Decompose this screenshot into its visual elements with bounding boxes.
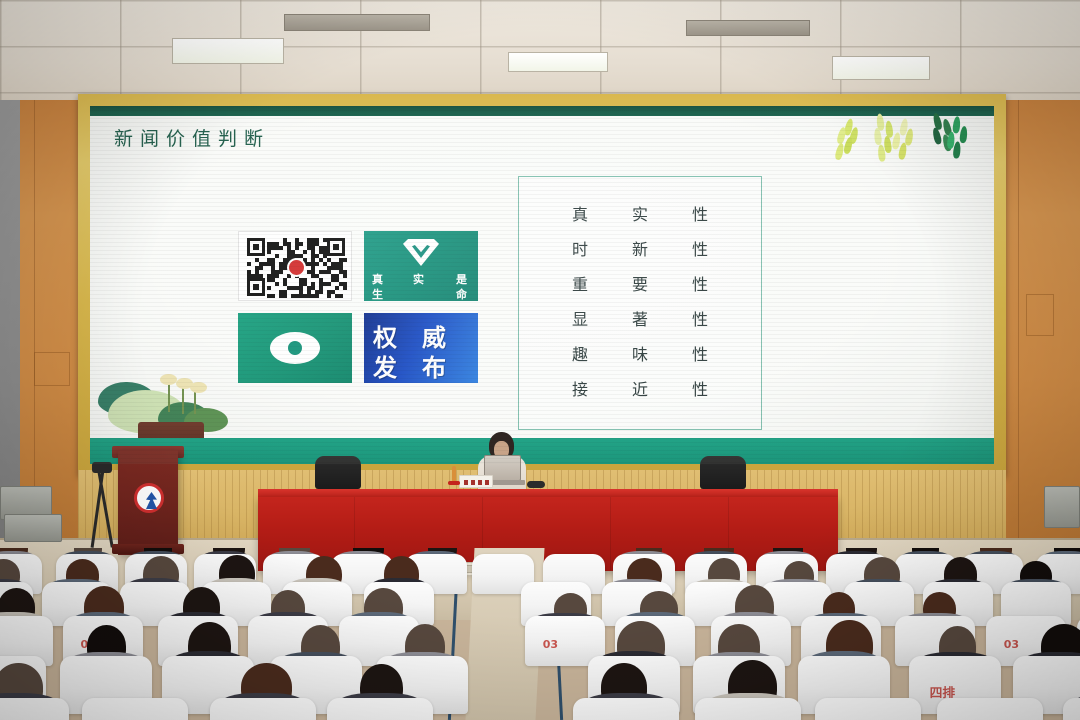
tile-char: 是 bbox=[456, 271, 467, 287]
qr-module bbox=[323, 238, 327, 242]
ceiling-vent-1 bbox=[284, 14, 430, 31]
microphone-base bbox=[448, 481, 460, 485]
audience-seat bbox=[573, 698, 679, 720]
lecture-hall-scene: 新闻价值判断 bbox=[0, 0, 1080, 720]
eye-icon bbox=[270, 332, 320, 364]
value-char: 性 bbox=[690, 236, 710, 260]
qr-code-icon bbox=[238, 231, 352, 301]
qr-module bbox=[275, 282, 279, 286]
ceiling-light-1 bbox=[172, 38, 284, 64]
audience-seat bbox=[1063, 698, 1080, 720]
value-char: 性 bbox=[690, 341, 710, 365]
value-char: 近 bbox=[630, 376, 650, 400]
value-row: 显著性 bbox=[519, 306, 761, 330]
value-char: 性 bbox=[690, 306, 710, 330]
equipment-case-3 bbox=[1044, 486, 1080, 528]
qr-module bbox=[275, 274, 279, 278]
qr-module bbox=[303, 250, 307, 254]
qr-module bbox=[339, 294, 343, 298]
school-crest-icon bbox=[134, 483, 164, 513]
qr-module bbox=[267, 250, 271, 254]
qr-module bbox=[247, 262, 251, 266]
logo-tiles-group: 真 实 是 生 命 权 威 发 布 bbox=[238, 231, 478, 383]
qr-module bbox=[315, 294, 319, 298]
qr-module bbox=[315, 262, 319, 266]
seat-marking: 03 bbox=[1004, 638, 1019, 651]
tile-char: 实 bbox=[413, 271, 424, 287]
qr-module bbox=[335, 286, 339, 290]
qr-module bbox=[259, 266, 263, 270]
qr-center-logo bbox=[289, 260, 304, 275]
value-row: 真实性 bbox=[519, 201, 761, 225]
qr-module bbox=[275, 254, 279, 258]
qr-module bbox=[271, 294, 275, 298]
value-row: 接近性 bbox=[519, 376, 761, 400]
potted-plant-decoration-icon bbox=[98, 368, 248, 444]
speaker-nameplate bbox=[459, 475, 493, 488]
audience-seat bbox=[327, 698, 433, 720]
value-char: 性 bbox=[690, 271, 710, 295]
seat-marking: 03 bbox=[543, 638, 558, 651]
tile-char: 命 bbox=[456, 286, 467, 301]
qr-module bbox=[343, 286, 347, 290]
chair-left bbox=[315, 456, 361, 489]
value-char: 真 bbox=[570, 201, 590, 225]
chair-right bbox=[700, 456, 746, 489]
tile-truth-slogan: 真 实 是 生 命 bbox=[364, 231, 478, 301]
microphone-icon bbox=[452, 466, 456, 482]
audience-seat bbox=[0, 698, 69, 720]
qr-module bbox=[327, 294, 331, 298]
presentation-slide: 新闻价值判断 bbox=[90, 106, 994, 464]
leaf-decoration-icon bbox=[842, 114, 982, 176]
wall-seam bbox=[1018, 100, 1019, 560]
qr-module bbox=[283, 294, 287, 298]
tile-eye-emblem bbox=[238, 313, 352, 383]
value-row: 趣味性 bbox=[519, 341, 761, 365]
qr-module bbox=[319, 290, 323, 294]
qr-module bbox=[343, 274, 347, 278]
qr-module bbox=[343, 258, 347, 262]
value-char: 要 bbox=[630, 271, 650, 295]
tile-char: 布 bbox=[422, 348, 446, 383]
value-char: 著 bbox=[630, 306, 650, 330]
tile-char: 真 bbox=[372, 271, 383, 287]
value-char: 性 bbox=[690, 201, 710, 225]
value-char: 显 bbox=[570, 306, 590, 330]
qr-module bbox=[287, 274, 291, 278]
qr-module bbox=[279, 270, 283, 274]
audience-seat bbox=[695, 698, 801, 720]
qr-module bbox=[267, 286, 271, 290]
value-char: 性 bbox=[690, 376, 710, 400]
audience-seat bbox=[937, 698, 1043, 720]
qr-module bbox=[327, 282, 331, 286]
projection-screen-frame: 新闻价值判断 bbox=[78, 94, 1006, 476]
value-char: 实 bbox=[630, 201, 650, 225]
tile-char: 生 bbox=[372, 286, 383, 301]
qr-module bbox=[279, 246, 283, 250]
value-char: 新 bbox=[630, 236, 650, 260]
slide-bottom-band bbox=[90, 438, 994, 464]
shield-icon bbox=[403, 239, 439, 266]
value-char: 重 bbox=[570, 271, 590, 295]
qr-module bbox=[259, 274, 263, 278]
wall-access-panel-left bbox=[34, 352, 70, 386]
value-char: 接 bbox=[570, 376, 590, 400]
value-row: 重要性 bbox=[519, 271, 761, 295]
wall-access-panel-right bbox=[1026, 294, 1054, 336]
audience-seat bbox=[82, 698, 188, 720]
news-value-list-box: 真实性时新性重要性显著性趣味性接近性 bbox=[518, 176, 762, 430]
ceiling-light-3 bbox=[832, 56, 930, 80]
value-row: 时新性 bbox=[519, 236, 761, 260]
tile-authority-release: 权 威 发 布 bbox=[364, 313, 478, 383]
equipment-case-2 bbox=[4, 514, 62, 542]
value-char: 味 bbox=[630, 341, 650, 365]
projection-screen: 新闻价值判断 bbox=[90, 106, 994, 464]
ceiling-vent-2 bbox=[686, 20, 810, 36]
camera-head-icon bbox=[92, 462, 112, 473]
tile-char: 发 bbox=[373, 348, 397, 383]
audience-seat bbox=[815, 698, 921, 720]
audience-area: 030303四排四排 bbox=[0, 548, 1080, 720]
slide-title: 新闻价值判断 bbox=[114, 124, 270, 151]
desk-object bbox=[527, 481, 545, 488]
qr-module bbox=[299, 242, 303, 246]
value-char: 时 bbox=[570, 236, 590, 260]
audience-seat bbox=[210, 698, 316, 720]
value-char: 趣 bbox=[570, 341, 590, 365]
qr-module bbox=[295, 246, 299, 250]
ceiling-light-2 bbox=[508, 52, 608, 72]
